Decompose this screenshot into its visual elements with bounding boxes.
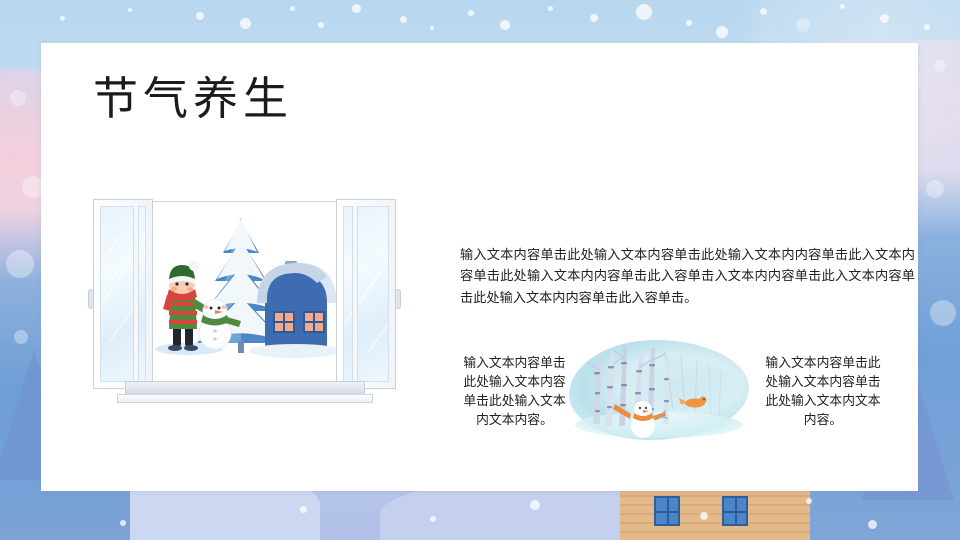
- snow-dot: [240, 18, 251, 29]
- column-text-right: 输入文本内容单击此处输入文本内容单击此处输入文本内文本内容。: [760, 355, 886, 431]
- snow-dot: [926, 180, 944, 198]
- column-text-left: 输入文本内容单击此处输入文本内容单击此处输入文本内文本内容。: [457, 355, 572, 431]
- slide-canvas: 节气养生: [0, 0, 960, 540]
- snow-dot: [934, 60, 946, 72]
- snow-dot: [760, 8, 767, 15]
- snow-dot: [352, 4, 361, 13]
- snow-dot: [716, 26, 728, 38]
- page-title: 节气养生: [93, 76, 293, 121]
- snow-dot: [590, 14, 598, 22]
- snow-dot: [548, 6, 553, 11]
- window-handle-right[interactable]: [395, 289, 401, 309]
- snow-dot: [60, 16, 65, 21]
- snow-dot: [128, 8, 132, 12]
- window-child-and-snowman-icon: [145, 203, 345, 373]
- content-card: 节气养生: [41, 43, 918, 491]
- snow-dot: [806, 498, 812, 504]
- window-sash-left-glass: [100, 206, 146, 382]
- cabin-window-right: [722, 496, 748, 526]
- snow-dot: [840, 4, 845, 9]
- window-sash-right[interactable]: [336, 199, 396, 389]
- snow-dot: [868, 520, 877, 529]
- birch-forest-illustration: [569, 340, 749, 440]
- snow-dot: [6, 250, 34, 278]
- snow-dot: [700, 512, 708, 520]
- snow-dot: [318, 22, 324, 28]
- snow-dot: [290, 6, 295, 11]
- snow-dot: [400, 16, 407, 23]
- snow-dot: [930, 300, 956, 326]
- snow-dot: [430, 26, 434, 30]
- window-sash-right-mullion: [352, 206, 358, 382]
- window-scene: [145, 203, 345, 373]
- cabin-wall: [620, 488, 810, 540]
- snow-dot: [120, 520, 126, 526]
- snow-dot: [430, 516, 436, 522]
- birch-fox-icon: [569, 340, 749, 440]
- snow-dot: [14, 330, 28, 344]
- window-sill-lower: [117, 394, 373, 403]
- snow-dot: [686, 20, 692, 26]
- window-sash-left-mullion: [133, 206, 139, 382]
- main-paragraph: 输入文本内容单击此处输入文本内容单击此处输入文本内内容单击此入文本内容单击此处输…: [460, 245, 915, 309]
- cabin-window-left: [654, 496, 680, 526]
- snow-dot: [500, 20, 510, 30]
- window-sash-left[interactable]: [93, 199, 153, 389]
- snow-dot: [796, 18, 810, 32]
- snow-dot: [10, 90, 26, 106]
- snow-dot: [300, 506, 307, 513]
- snow-dot: [636, 4, 652, 20]
- snow-dot: [468, 10, 474, 16]
- window-sash-right-glass: [343, 206, 389, 382]
- snow-dot: [924, 24, 930, 30]
- window-handle-left[interactable]: [88, 289, 94, 309]
- snow-dot: [880, 14, 889, 23]
- snow-dot: [196, 12, 204, 20]
- snow-dot: [530, 500, 540, 510]
- open-window-illustration: [87, 195, 402, 413]
